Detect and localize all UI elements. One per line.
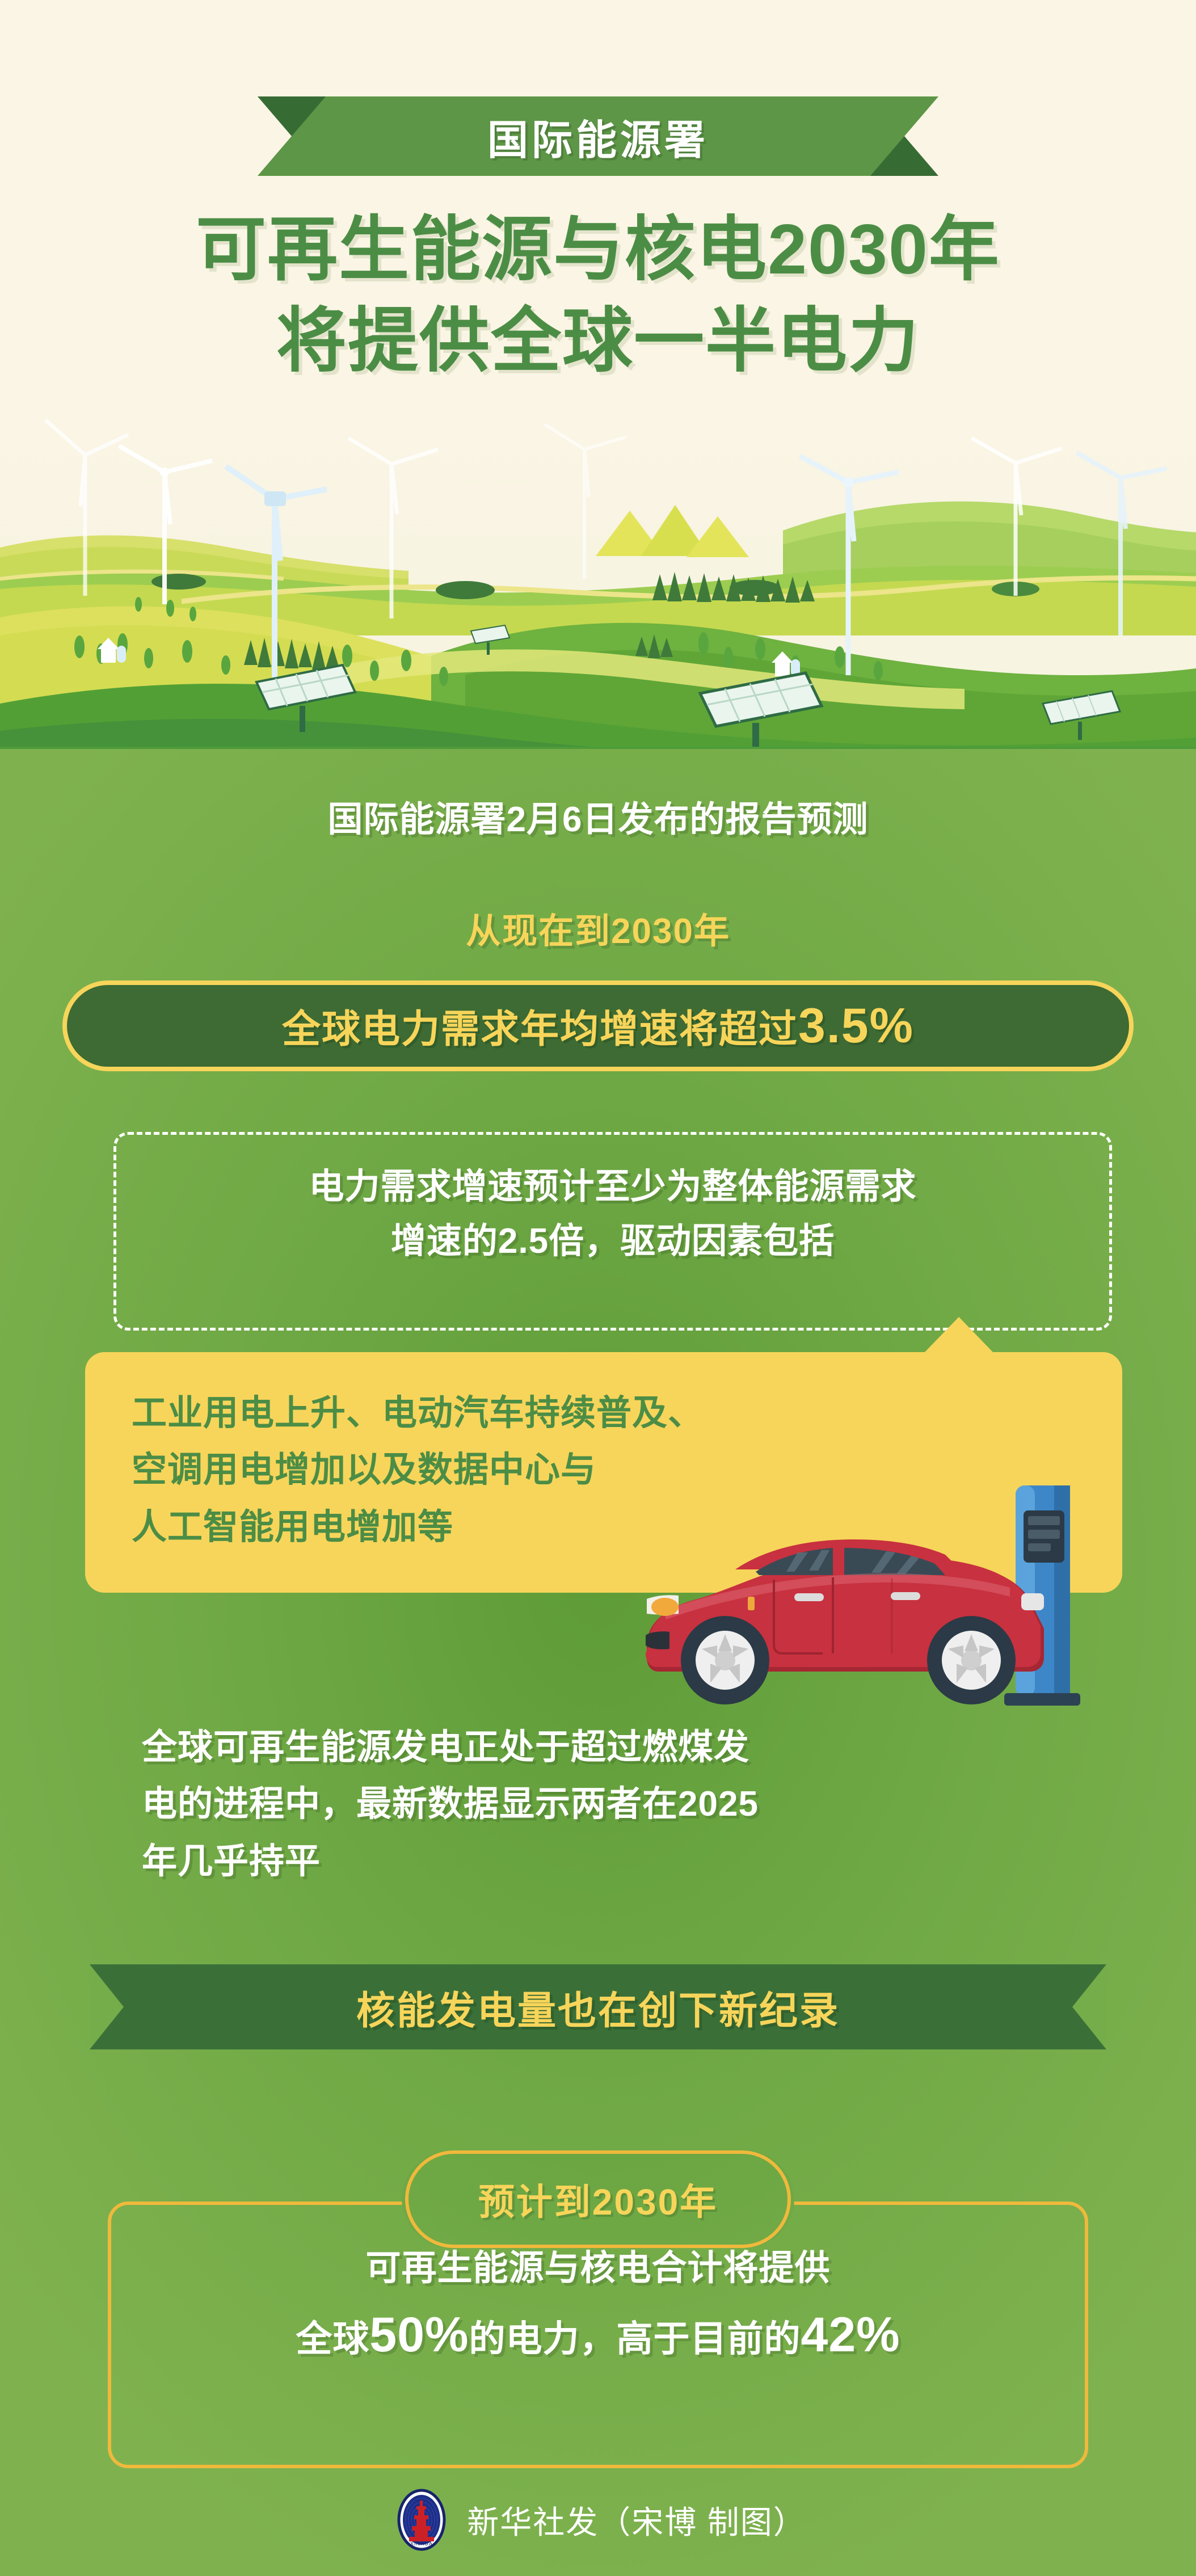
report-intro-line: 国际能源署2月6日发布的报告预测 xyxy=(0,794,1196,845)
forecast-tag-pill: 预计到2030年 xyxy=(405,2150,791,2248)
drivers-line-1: 工业用电上升、电动汽车持续普及、 xyxy=(132,1394,704,1433)
period-line: 从现在到2030年 xyxy=(0,902,1196,953)
agency-badge-label: 国际能源署 xyxy=(258,96,938,176)
car-wheel-front xyxy=(681,1616,769,1704)
dashed-note-text: 电力需求增速预计至少为整体能源需求 增速的2.5倍，驱动因素包括 xyxy=(116,1160,1109,1269)
main-title: 可再生能源与核电2030年 将提供全球一半电力 xyxy=(0,204,1196,387)
paragraph-line-1: 全球可再生能源发电正处于超过燃煤发 xyxy=(142,1728,749,1767)
landscape-illustration xyxy=(0,409,1196,760)
callout-pointer xyxy=(925,1317,993,1352)
main-title-line-2: 将提供全球一半电力 xyxy=(0,296,1196,387)
footer-credit: 新华社发（宋博 制图） xyxy=(467,2497,806,2543)
footer: XINHUA 新华社发（宋博 制图） xyxy=(0,2483,1196,2557)
agency-ribbon-banner: 国际能源署 xyxy=(258,96,938,176)
forecast-tag-label: 预计到2030年 xyxy=(478,2173,718,2225)
forecast-prefix: 全球 xyxy=(296,2318,369,2359)
paragraph-line-2: 电的进程中，最新数据显示两者在2025 xyxy=(142,1784,759,1824)
dashed-note-line-2: 增速的2.5倍，驱动因素包括 xyxy=(391,1222,835,1261)
main-title-line-1: 可再生能源与核电2030年 xyxy=(196,211,1000,289)
renewables-paragraph: 全球可再生能源发电正处于超过燃煤发 电的进程中，最新数据显示两者在2025 年几… xyxy=(142,1719,1072,1890)
dashed-note-box: 电力需求增速预计至少为整体能源需求 增速的2.5倍，驱动因素包括 xyxy=(113,1132,1112,1331)
car-wheel-rear xyxy=(927,1616,1016,1704)
svg-text:XINHUA: XINHUA xyxy=(410,2541,433,2546)
dashed-note-line-1: 电力需求增速预计至少为整体能源需求 xyxy=(309,1167,916,1206)
demand-growth-value: 3.5% xyxy=(798,999,914,1053)
nuclear-record-banner: 核能发电量也在创下新纪录 xyxy=(90,1964,1106,2049)
forecast-share-2030: 50% xyxy=(369,2308,469,2362)
demand-growth-label: 全球电力需求年均增速将超过 xyxy=(282,1008,798,1051)
demand-growth-text: 全球电力需求年均增速将超过3.5% xyxy=(282,997,914,1054)
forecast-middle: 的电力，高于目前的 xyxy=(469,2318,801,2359)
xinhua-logo-icon: XINHUA xyxy=(390,2488,453,2552)
drivers-line-2: 空调用电增加以及数据中心与 xyxy=(132,1450,596,1489)
forecast-share-current: 42% xyxy=(801,2308,900,2362)
paragraph-line-3: 年几乎持平 xyxy=(142,1842,321,1881)
ev-charging-illustration xyxy=(624,1458,1123,1725)
drivers-line-3: 人工智能用电增加等 xyxy=(132,1508,453,1547)
demand-growth-pill: 全球电力需求年均增速将超过3.5% xyxy=(62,980,1134,1071)
infographic-poster: 国际能源署 可再生能源与核电2030年 将提供全球一半电力 xyxy=(0,0,1196,2576)
nuclear-banner-label: 核能发电量也在创下新纪录 xyxy=(90,1964,1106,2049)
forecast-line-2: 全球50%的电力，高于目前的42% xyxy=(0,2307,1196,2363)
